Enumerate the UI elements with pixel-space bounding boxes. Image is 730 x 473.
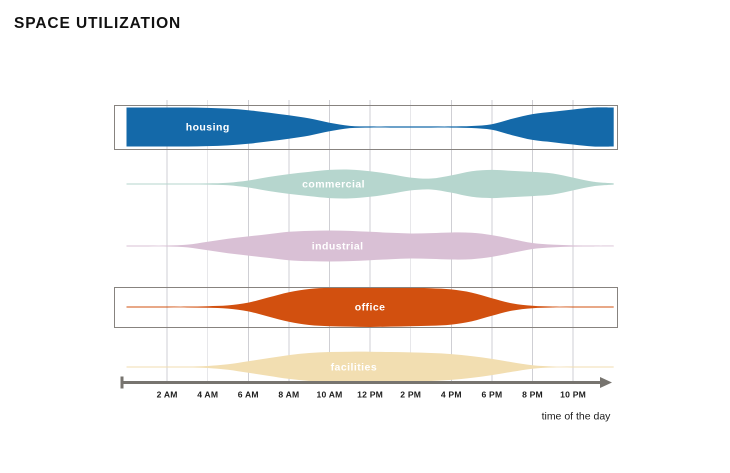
series-label-commercial: commercial: [302, 178, 365, 190]
x-tick-label: 8 PM: [522, 390, 543, 400]
x-tick-label: 10 AM: [317, 390, 343, 400]
x-tick-label: 6 AM: [238, 390, 259, 400]
x-axis: 2 AM4 AM6 AM8 AM10 AM12 PM2 PM4 PM6 PM8 …: [122, 377, 612, 423]
violin-plot-svg: housingcommercialindustrialofficefacilit…: [0, 0, 730, 473]
x-tick-label: 6 PM: [481, 390, 502, 400]
violin-shape-industrial[interactable]: [127, 230, 614, 261]
space-utilization-chart: SPACE UTILIZATION housingcommercialindus…: [0, 0, 730, 473]
series-label-facilities: facilities: [331, 361, 378, 373]
series-label-housing: housing: [186, 121, 230, 133]
x-tick-label: 2 PM: [400, 390, 421, 400]
x-tick-label: 10 PM: [560, 390, 586, 400]
violin-shape-commercial[interactable]: [127, 170, 614, 199]
x-tick-label: 8 AM: [278, 390, 299, 400]
x-tick-label: 4 AM: [197, 390, 218, 400]
x-tick-label: 4 PM: [441, 390, 462, 400]
series-label-industrial: industrial: [312, 240, 364, 252]
axis-arrow-icon: [600, 377, 612, 388]
x-axis-title: time of the day: [542, 411, 612, 423]
x-tick-label: 12 PM: [357, 390, 383, 400]
series-label-office: office: [355, 301, 386, 313]
x-tick-label: 2 AM: [157, 390, 178, 400]
